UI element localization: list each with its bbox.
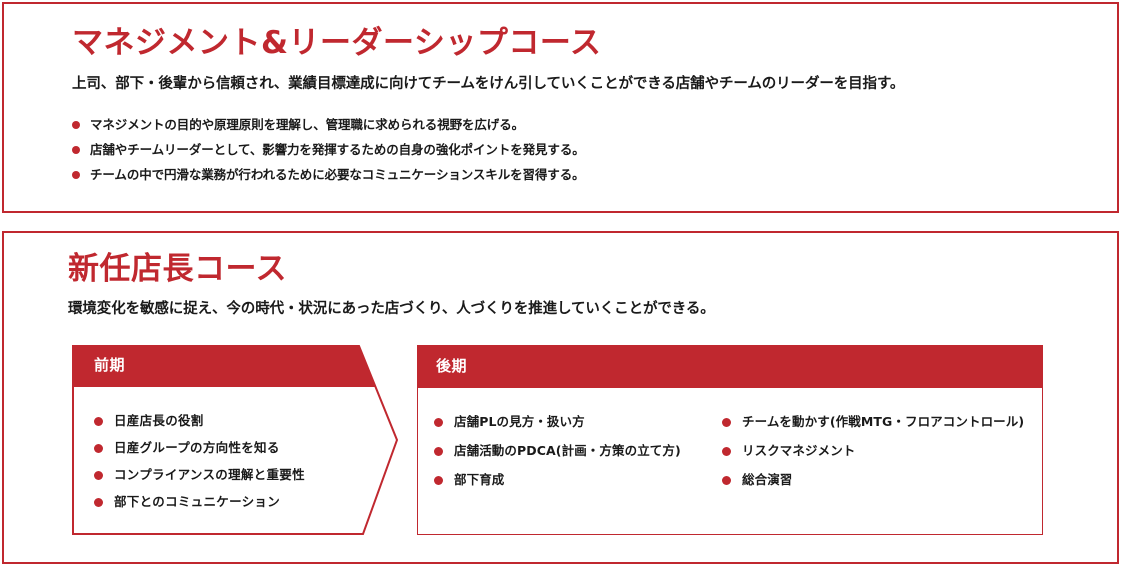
- list-item: 日産グループの方向性を知る: [94, 440, 305, 456]
- second-term-item-text: 店舗PLの見方・扱い方: [454, 414, 585, 429]
- bullet-dot-icon: [434, 418, 443, 427]
- second-term-item-text: 総合演習: [742, 472, 792, 487]
- bullet-dot-icon: [722, 447, 731, 456]
- bullet-dot-icon: [94, 498, 103, 507]
- second-term-item-text: チームを動かす(作戦MTG・フロアコントロール): [742, 414, 1024, 429]
- bullet-dot-icon: [94, 444, 103, 453]
- list-item: 総合演習: [722, 472, 1032, 488]
- first-term-header-label: 前期: [94, 355, 125, 375]
- bullet-dot-icon: [94, 417, 103, 426]
- first-term-item-text: コンプライアンスの理解と重要性: [114, 467, 305, 482]
- second-term-box: 後期 店舗PLの見方・扱い方 店舗活動のPDCA(計画・方策の立て方) 部下育成: [417, 345, 1043, 535]
- goal-text: チームの中で円滑な業務が行われるために必要なコミュニケーションスキルを習得する。: [90, 167, 585, 182]
- list-item: 日産店長の役割: [94, 413, 305, 429]
- list-item: 店舗活動のPDCA(計画・方策の立て方): [434, 443, 722, 459]
- list-item: リスクマネジメント: [722, 443, 1032, 459]
- list-item: 部下育成: [434, 472, 722, 488]
- list-item: チームを動かす(作戦MTG・フロアコントロール): [722, 414, 1032, 430]
- bullet-dot-icon: [72, 171, 80, 179]
- management-course-lead-text: 上司、部下・後輩から信頼され、業績目標達成に向けてチームをけん引していくことがで…: [72, 74, 904, 94]
- list-item: チームの中で円滑な業務が行われるために必要なコミュニケーションスキルを習得する。: [72, 166, 585, 183]
- first-term-item-text: 日産店長の役割: [114, 413, 204, 428]
- list-item: コンプライアンスの理解と重要性: [94, 467, 305, 483]
- first-term-item-list: 日産店長の役割 日産グループの方向性を知る コンプライアンスの理解と重要性 部下…: [94, 413, 305, 521]
- second-term-header-label: 後期: [436, 356, 467, 376]
- second-term-item-text: 部下育成: [454, 472, 504, 487]
- bullet-dot-icon: [434, 447, 443, 456]
- management-course-panel: マネジメント&リーダーシップコース 上司、部下・後輩から信頼され、業績目標達成に…: [2, 2, 1119, 213]
- goal-text: 店舗やチームリーダーとして、影響力を発揮するための自身の強化ポイントを発見する。: [90, 142, 585, 157]
- goal-text: マネジメントの目的や原理原則を理解し、管理職に求められる視野を広げる。: [90, 117, 524, 132]
- bullet-dot-icon: [434, 476, 443, 485]
- second-term-item-text: リスクマネジメント: [742, 443, 855, 458]
- bullet-dot-icon: [94, 471, 103, 480]
- bullet-dot-icon: [722, 418, 731, 427]
- bullet-dot-icon: [72, 121, 80, 129]
- second-term-columns: 店舗PLの見方・扱い方 店舗活動のPDCA(計画・方策の立て方) 部下育成 チー…: [418, 414, 1042, 501]
- list-item: マネジメントの目的や原理原則を理解し、管理職に求められる視野を広げる。: [72, 116, 585, 133]
- second-term-item-text: 店舗活動のPDCA(計画・方策の立て方): [454, 443, 681, 458]
- bullet-dot-icon: [722, 476, 731, 485]
- first-term-box: 前期 日産店長の役割 日産グループの方向性を知る コンプライアンスの理解と重要性…: [72, 345, 398, 535]
- second-term-header-band: [418, 346, 1042, 388]
- management-course-goal-list: マネジメントの目的や原理原則を理解し、管理職に求められる視野を広げる。 店舗やチ…: [72, 116, 585, 191]
- second-term-right-column: チームを動かす(作戦MTG・フロアコントロール) リスクマネジメント 総合演習: [722, 414, 1032, 501]
- list-item: 部下とのコミュニケーション: [94, 494, 305, 510]
- new-store-manager-course-lead-text: 環境変化を敏感に捉え、今の時代・状況にあった店づくり、人づくりを推進していくこと…: [68, 299, 715, 319]
- first-term-item-text: 日産グループの方向性を知る: [114, 440, 280, 455]
- list-item: 店舗PLの見方・扱い方: [434, 414, 722, 430]
- first-term-item-text: 部下とのコミュニケーション: [114, 494, 280, 509]
- list-item: 店舗やチームリーダーとして、影響力を発揮するための自身の強化ポイントを発見する。: [72, 141, 585, 158]
- course-overview-page: マネジメント&リーダーシップコース 上司、部下・後輩から信頼され、業績目標達成に…: [0, 0, 1121, 566]
- second-term-left-column: 店舗PLの見方・扱い方 店舗活動のPDCA(計画・方策の立て方) 部下育成: [434, 414, 722, 501]
- management-course-title: マネジメント&リーダーシップコース: [72, 24, 601, 62]
- bullet-dot-icon: [72, 146, 80, 154]
- new-store-manager-course-title: 新任店長コース: [68, 250, 287, 288]
